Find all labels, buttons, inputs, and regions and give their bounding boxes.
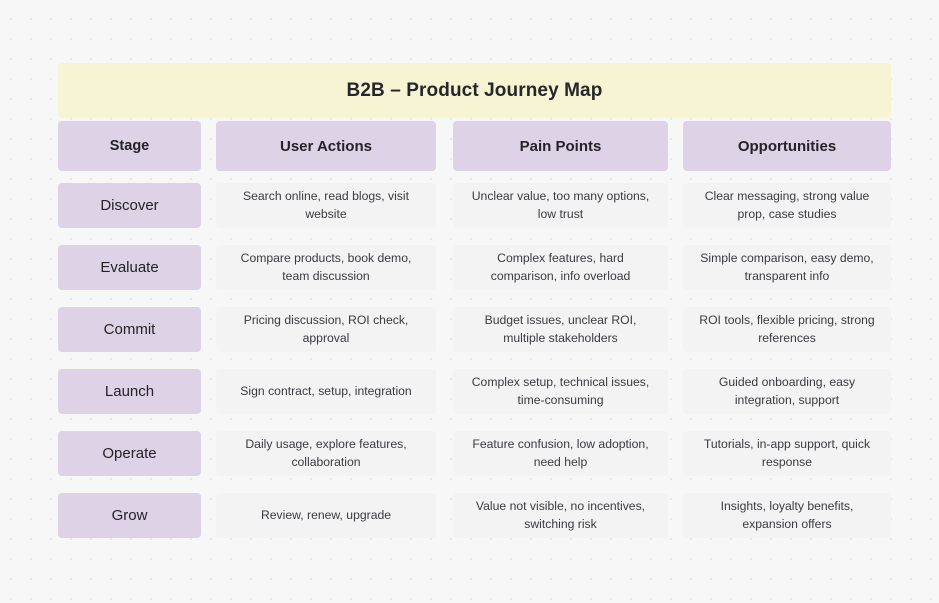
cell-opportunities-discover[interactable]: Clear messaging, strong value prop, case…: [683, 183, 891, 228]
cell-user-actions-discover[interactable]: Search online, read blogs, visit website: [216, 183, 436, 228]
table-row: Launch Sign contract, setup, integration…: [58, 369, 891, 414]
stage-label-launch[interactable]: Launch: [58, 369, 201, 414]
cell-user-actions-evaluate[interactable]: Compare products, book demo, team discus…: [216, 245, 436, 290]
cell-user-actions-operate[interactable]: Daily usage, explore features, collabora…: [216, 431, 436, 476]
cell-opportunities-grow[interactable]: Insights, loyalty benefits, expansion of…: [683, 493, 891, 538]
cell-pain-points-commit[interactable]: Budget issues, unclear ROI, multiple sta…: [453, 307, 668, 352]
table-row: Operate Daily usage, explore features, c…: [58, 431, 891, 476]
column-header-stage: Stage: [58, 121, 201, 171]
stage-label-commit[interactable]: Commit: [58, 307, 201, 352]
board-title: B2B – Product Journey Map: [347, 80, 603, 102]
stage-label-discover[interactable]: Discover: [58, 183, 201, 228]
cell-pain-points-evaluate[interactable]: Complex features, hard comparison, info …: [453, 245, 668, 290]
cell-opportunities-evaluate[interactable]: Simple comparison, easy demo, transparen…: [683, 245, 891, 290]
cell-user-actions-commit[interactable]: Pricing discussion, ROI check, approval: [216, 307, 436, 352]
journey-map-board: B2B – Product Journey Map Stage User Act…: [58, 63, 891, 538]
table-row: Commit Pricing discussion, ROI check, ap…: [58, 307, 891, 352]
column-header-user-actions: User Actions: [216, 121, 436, 171]
stage-label-operate[interactable]: Operate: [58, 431, 201, 476]
cell-user-actions-launch[interactable]: Sign contract, setup, integration: [216, 369, 436, 414]
stage-label-grow[interactable]: Grow: [58, 493, 201, 538]
table-row: Grow Review, renew, upgrade Value not vi…: [58, 493, 891, 538]
stage-label-evaluate[interactable]: Evaluate: [58, 245, 201, 290]
cell-opportunities-launch[interactable]: Guided onboarding, easy integration, sup…: [683, 369, 891, 414]
cell-pain-points-discover[interactable]: Unclear value, too many options, low tru…: [453, 183, 668, 228]
column-header-row: Stage User Actions Pain Points Opportuni…: [58, 121, 891, 171]
table-row: Discover Search online, read blogs, visi…: [58, 183, 891, 228]
column-header-opportunities: Opportunities: [683, 121, 891, 171]
cell-opportunities-operate[interactable]: Tutorials, in-app support, quick respons…: [683, 431, 891, 476]
cell-pain-points-operate[interactable]: Feature confusion, low adoption, need he…: [453, 431, 668, 476]
cell-pain-points-launch[interactable]: Complex setup, technical issues, time-co…: [453, 369, 668, 414]
board-title-banner: B2B – Product Journey Map: [58, 63, 891, 118]
cell-user-actions-grow[interactable]: Review, renew, upgrade: [216, 493, 436, 538]
table-row: Evaluate Compare products, book demo, te…: [58, 245, 891, 290]
journey-map-grid: Stage User Actions Pain Points Opportuni…: [58, 121, 891, 538]
cell-opportunities-commit[interactable]: ROI tools, flexible pricing, strong refe…: [683, 307, 891, 352]
column-header-pain-points: Pain Points: [453, 121, 668, 171]
cell-pain-points-grow[interactable]: Value not visible, no incentives, switch…: [453, 493, 668, 538]
